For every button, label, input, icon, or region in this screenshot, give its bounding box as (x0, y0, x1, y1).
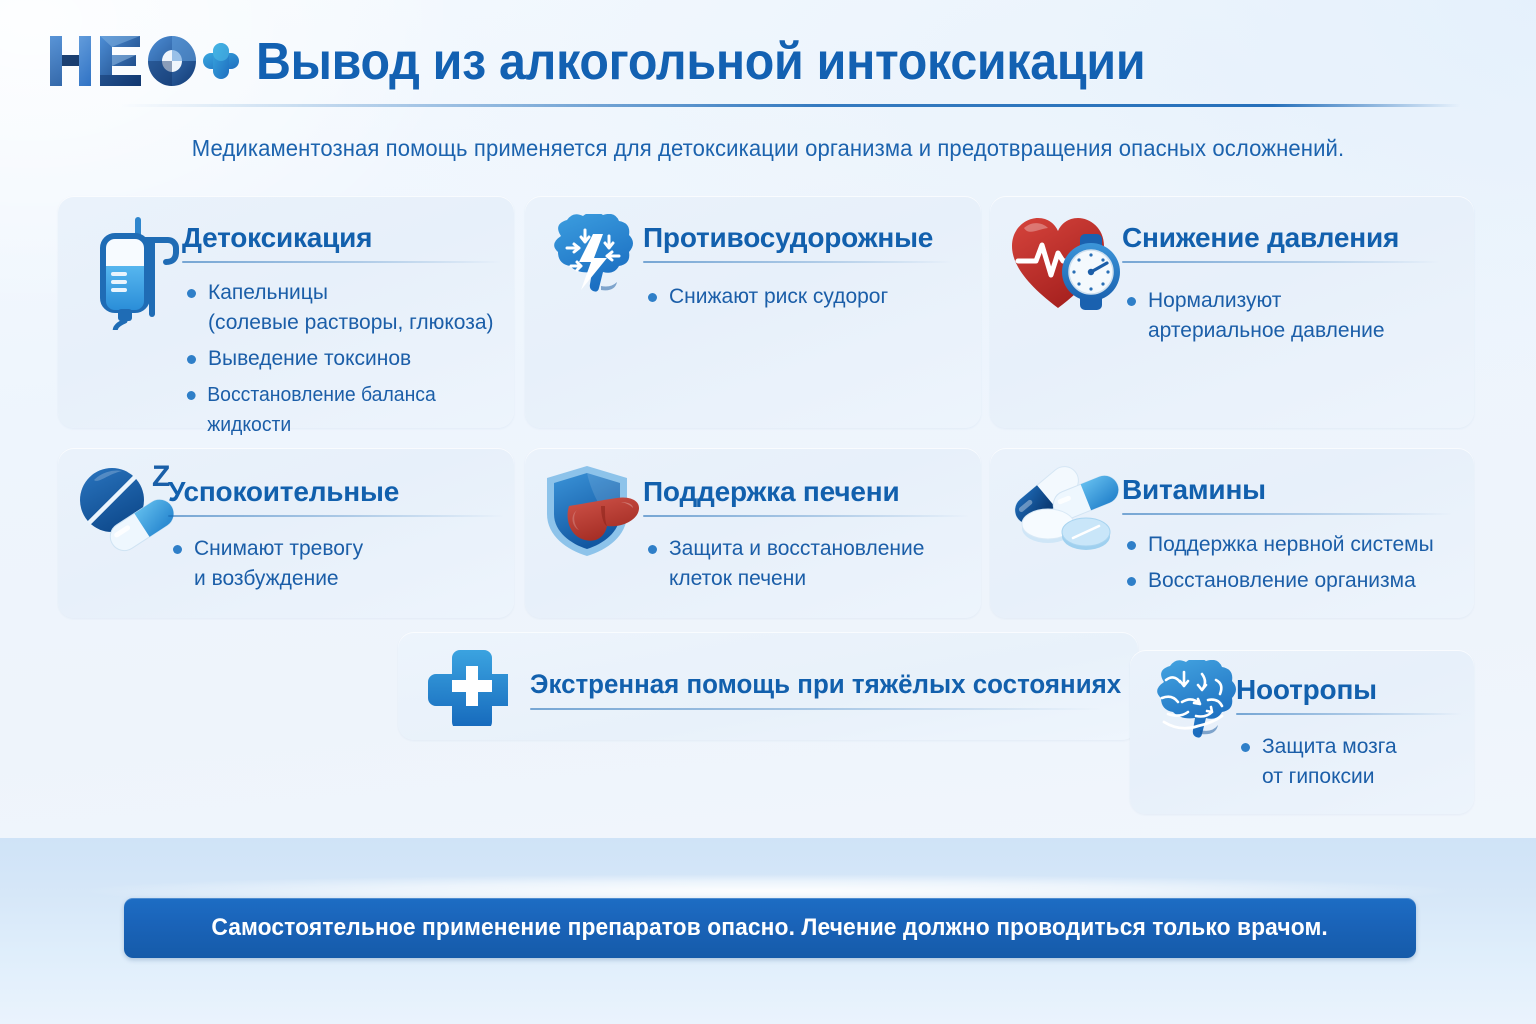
card-title-divider (182, 261, 502, 263)
pills-capsules-icon (1000, 460, 1120, 556)
list-item: Защита и восстановление клеток печени (643, 534, 969, 594)
card-title-divider (643, 515, 969, 517)
emergency-help-label: Экстренная помощь при тяжёлых состояниях (530, 669, 1121, 700)
card-title: Ноотропы (1236, 674, 1377, 706)
medical-cross-icon (428, 646, 508, 726)
brain-icon (1144, 660, 1242, 752)
list-item: Восстановление баланса жидкости (182, 380, 492, 440)
card-title: Противосудорожные (643, 222, 933, 254)
card-vitamins[interactable]: Витамины Поддержка нервной системы Восст… (990, 448, 1474, 618)
neo-plus-logo (48, 30, 240, 92)
list-item: Нормализуют артериальное давление (1122, 286, 1452, 346)
page-title: Вывод из алкогольной интоксикации (256, 32, 1145, 92)
card-bullets: Нормализуют артериальное давление (1122, 286, 1452, 352)
card-title-divider (1236, 713, 1462, 715)
card-liver-support[interactable]: Поддержка печени Защита и восстановление… (525, 448, 981, 618)
card-title: Детоксикация (182, 222, 372, 254)
sleeping-pills-icon: Z (74, 460, 182, 556)
list-item: Восстановление организма (1122, 566, 1462, 596)
card-title-divider (1122, 513, 1452, 515)
card-nootropics[interactable]: Ноотропы Защита мозга от гипоксии (1130, 650, 1474, 814)
card-title: Витамины (1122, 474, 1266, 506)
warning-bar: Самостоятельное применение препаратов оп… (124, 898, 1416, 958)
card-title-divider (168, 515, 504, 517)
card-bullets: Защита и восстановление клеток печени (643, 534, 969, 600)
header-divider (120, 104, 1460, 107)
header: Вывод из алкогольной интоксикации (0, 0, 1536, 112)
heart-pressure-gauge-icon (1010, 212, 1126, 318)
card-anticonvulsants[interactable]: Противосудорожные Снижают риск судорог (525, 196, 981, 428)
list-item: Поддержка нервной системы (1122, 530, 1462, 560)
warning-text: Самостоятельное применение препаратов оп… (212, 914, 1328, 942)
brain-lightning-icon (541, 214, 643, 310)
emergency-help-banner[interactable]: Экстренная помощь при тяжёлых состояниях (398, 632, 1138, 740)
card-title: Успокоительные (168, 476, 399, 508)
list-item: Защита мозга от гипоксии (1236, 732, 1462, 792)
card-title-divider (1122, 261, 1440, 263)
card-bullets: Снимают тревогу и возбуждение (168, 534, 504, 600)
list-item: Капельницы (солевые растворы, глюкоза) (182, 278, 502, 338)
infographic-canvas: Вывод из алкогольной интоксикации Медика… (0, 0, 1536, 1024)
card-sedatives[interactable]: Z Успокоительные Снимают тревогу и возбу… (58, 448, 514, 618)
card-blood-pressure[interactable]: Снижение давления Нормализуют артериальн… (990, 196, 1474, 428)
liver-shield-icon (543, 462, 651, 562)
iv-drip-icon (80, 214, 184, 330)
card-title: Поддержка печени (643, 476, 899, 508)
card-bullets: Поддержка нервной системы Восстановление… (1122, 530, 1462, 602)
card-title-divider (643, 261, 953, 263)
list-item: Выведение токсинов (182, 344, 502, 374)
card-bullets: Защита мозга от гипоксии (1236, 732, 1462, 798)
card-bullets: Снижают риск судорог (643, 282, 953, 318)
emergency-divider (530, 708, 1102, 710)
card-title: Снижение давления (1122, 222, 1399, 254)
card-bullets: Капельницы (солевые растворы, глюкоза) В… (182, 278, 502, 446)
card-detox[interactable]: Детоксикация Капельницы (солевые раствор… (58, 196, 514, 428)
page-subtitle: Медикаментозная помощь применяется для д… (46, 135, 1490, 162)
list-item: Снижают риск судорог (643, 282, 953, 312)
list-item: Снимают тревогу и возбуждение (168, 534, 504, 594)
